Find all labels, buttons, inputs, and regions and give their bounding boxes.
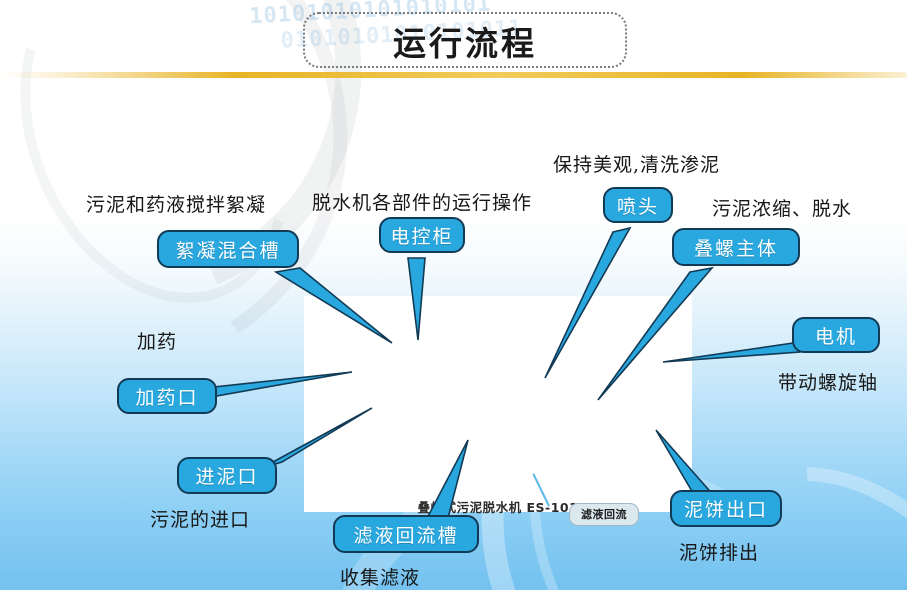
callout-filtrate-return-tank-label: 滤液回流槽: [353, 521, 458, 548]
gray-swoosh-shape-3: [0, 0, 340, 346]
callout-filtrate-return-tank[interactable]: 滤液回流槽: [333, 515, 479, 553]
page-title: 运行流程: [303, 13, 627, 69]
callout-flocculation-tank[interactable]: 絮凝混合槽: [157, 230, 299, 268]
annotation-mixing-note: 污泥和药液搅拌絮凝: [86, 190, 266, 217]
photo-inline-tag-filtrate-return: 滤液回流: [569, 503, 639, 526]
callout-screw-body[interactable]: 叠螺主体: [672, 228, 800, 266]
callout-spray-nozzle[interactable]: 喷头: [603, 187, 673, 223]
callout-sludge-inlet[interactable]: 进泥口: [177, 457, 277, 494]
callout-motor-label: 电机: [815, 322, 857, 349]
callout-sludge-inlet-label: 进泥口: [195, 462, 258, 489]
callout-dosing-port-label: 加药口: [135, 383, 198, 410]
machine-photo: [304, 296, 692, 512]
annotation-cleaning-note: 保持美观,清洗渗泥: [553, 150, 720, 177]
annotation-cake-discharge-note: 泥饼排出: [679, 538, 759, 565]
annotation-thickening-note: 污泥浓缩、脱水: [712, 194, 852, 221]
annotation-sludge-inlet-note: 污泥的进口: [150, 505, 250, 532]
callout-cake-outlet-label: 泥饼出口: [684, 495, 768, 522]
callout-motor[interactable]: 电机: [792, 317, 880, 353]
annotation-screw-shaft-note: 带动螺旋轴: [778, 368, 878, 395]
callout-spray-nozzle-label: 喷头: [617, 192, 659, 219]
annotation-dosing-note: 加药: [137, 327, 177, 354]
slide-canvas: 10101010101010101 01010101010101011 运行流程: [0, 0, 907, 590]
annotation-filtrate-note: 收集滤液: [340, 563, 420, 590]
callout-control-cabinet[interactable]: 电控柜: [379, 217, 465, 253]
gold-divider-rule: [0, 72, 907, 78]
callout-flocculation-tank-label: 絮凝混合槽: [175, 236, 280, 263]
callout-dosing-port[interactable]: 加药口: [117, 378, 217, 414]
callout-screw-body-label: 叠螺主体: [694, 234, 778, 261]
callout-cake-outlet[interactable]: 泥饼出口: [670, 490, 782, 527]
callout-control-cabinet-label: 电控柜: [390, 222, 453, 249]
annotation-operation-note: 脱水机各部件的运行操作: [312, 188, 532, 215]
